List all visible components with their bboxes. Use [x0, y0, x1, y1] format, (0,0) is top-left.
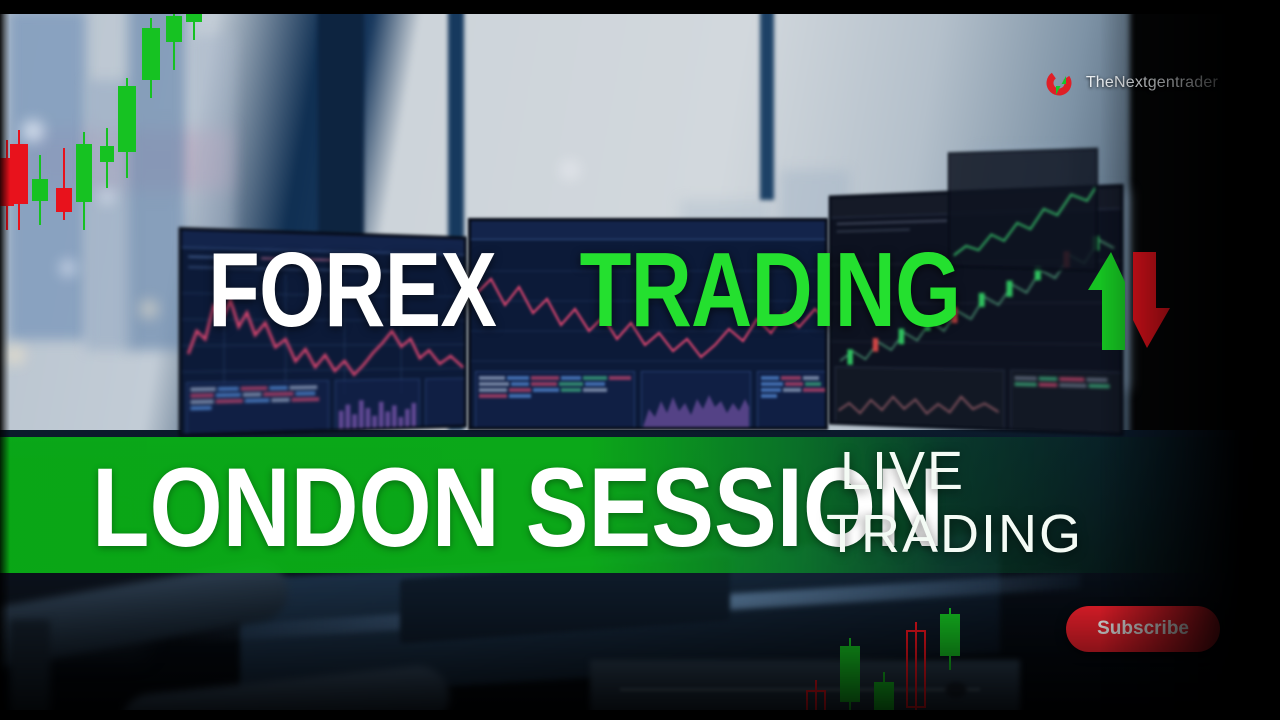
- top-letterbox: [0, 0, 1280, 14]
- bottom-letterbox: [0, 710, 1280, 720]
- bottom-vignette: [0, 580, 1280, 720]
- left-vignette: [0, 0, 10, 720]
- city-light-glow: [560, 160, 580, 180]
- window-mullion: [760, 0, 774, 200]
- secondary-line-chart: [838, 382, 1000, 428]
- area-chart: [643, 387, 749, 427]
- trading-label: TRADING: [826, 503, 1083, 566]
- main-title: FOREX TRADING: [0, 242, 1180, 340]
- banner-headline: LONDON SESSION: [92, 452, 944, 564]
- thumbnail-canvas: FOREX TRADING LONDON SESSION LIVE TRADIN…: [0, 0, 1280, 720]
- title-forex: FOREX: [208, 242, 496, 340]
- live-trading-label: LIVE TRADING: [840, 440, 1083, 565]
- title-trading: TRADING: [580, 242, 961, 340]
- volume-histogram: [337, 393, 418, 431]
- live-label: LIVE: [840, 441, 965, 501]
- city-light-glow: [100, 190, 114, 204]
- circular-arrow-logo-icon: [1044, 68, 1074, 98]
- right-vignette: [1100, 0, 1280, 720]
